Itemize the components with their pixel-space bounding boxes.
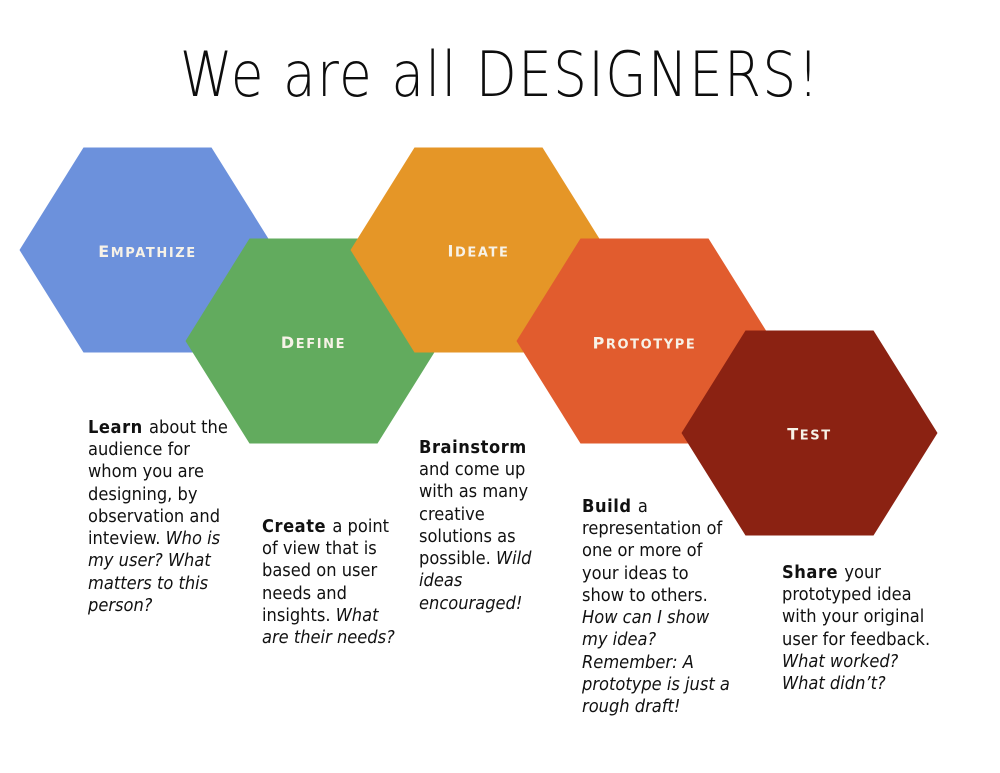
hexagon-label-prototype: Prototype bbox=[593, 328, 697, 354]
caption-question-prototype: How can I show my idea? Remember: A prot… bbox=[582, 608, 730, 717]
caption-lead-ideate: Brainstorm bbox=[419, 438, 527, 458]
hexagon-label-test: Test bbox=[787, 420, 831, 446]
caption-define: Create a point of view that is based on … bbox=[262, 516, 406, 649]
hexagon-label-empathize: Empathize bbox=[98, 237, 197, 263]
page-title: We are all DESIGNERS! bbox=[70, 38, 930, 111]
caption-ideate: Brainstorm and come up with as many crea… bbox=[419, 437, 554, 615]
caption-test: Share your prototyped idea with your ori… bbox=[782, 562, 945, 695]
hexagon-label-define: Define bbox=[281, 328, 346, 354]
caption-prototype: Build a representation of one or more of… bbox=[582, 496, 731, 718]
design-thinking-diagram: We are all DESIGNERS! Empathize Define I… bbox=[0, 0, 1000, 773]
caption-lead-empathize: Learn bbox=[88, 418, 149, 438]
caption-lead-test: Share bbox=[782, 563, 844, 583]
caption-lead-prototype: Build bbox=[582, 497, 638, 517]
hexagon-label-ideate: Ideate bbox=[447, 237, 509, 263]
caption-question-test: What worked? What didn’t? bbox=[782, 652, 898, 694]
caption-lead-define: Create bbox=[262, 517, 332, 537]
caption-empathize: Learn about the audience for whom you ar… bbox=[88, 417, 237, 617]
